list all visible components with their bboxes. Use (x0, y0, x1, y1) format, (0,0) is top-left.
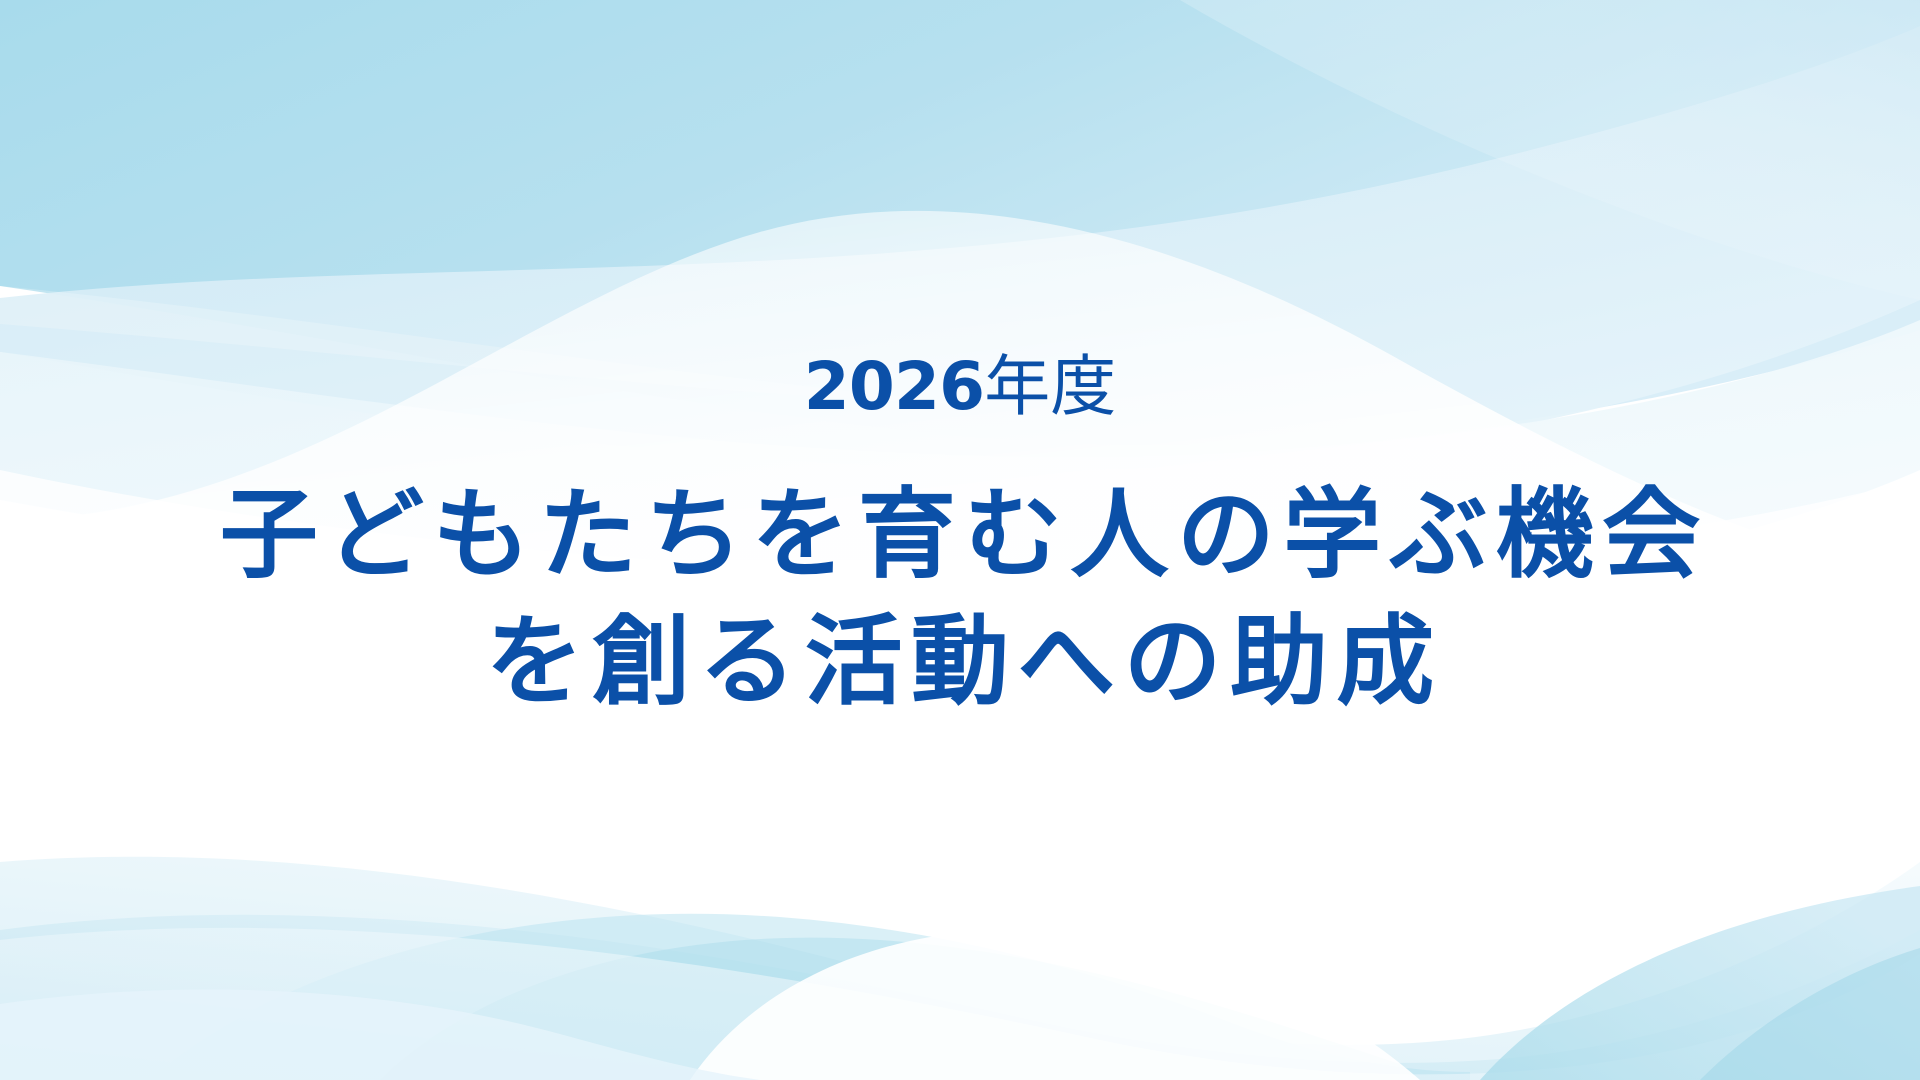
page-title-line-2: を創る活動への助成 (212, 599, 1709, 726)
title-slide: 2026年度 子どもたちを育む人の学ぶ機会 を創る活動への助成 (0, 0, 1920, 1080)
page-title: 子どもたちを育む人の学ぶ機会 を創る活動への助成 (212, 472, 1709, 727)
fiscal-year-label: 2026年度 (804, 354, 1117, 420)
page-title-line-1: 子どもたちを育む人の学ぶ機会 (212, 472, 1709, 599)
fiscal-year-suffix: 年度 (984, 348, 1116, 425)
slide-content: 2026年度 子どもたちを育む人の学ぶ機会 を創る活動への助成 (0, 0, 1920, 1080)
fiscal-year-number: 2026 (804, 348, 985, 425)
